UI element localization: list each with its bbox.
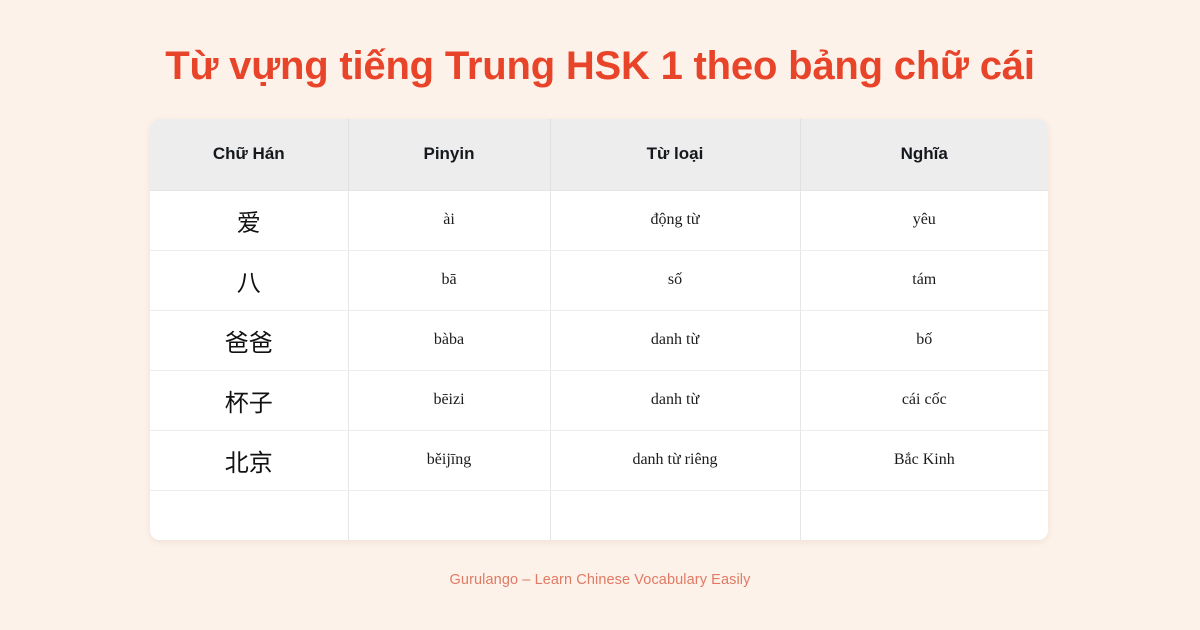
- cell-meaning: cái cốc: [800, 370, 1048, 430]
- cell-hanzi: 北京: [150, 430, 348, 490]
- poster-root: Từ vựng tiếng Trung HSK 1 theo bảng chữ …: [0, 0, 1200, 630]
- cell-pinyin: bā: [348, 250, 550, 310]
- table-empty-row: [150, 490, 1048, 540]
- table-row: 爱 ài động từ yêu: [150, 190, 1048, 250]
- vocabulary-table-card: Chữ Hán Pinyin Từ loại Nghĩa 爱 ài động t…: [150, 119, 1048, 540]
- cell-type: danh từ riêng: [550, 430, 800, 490]
- cell-type: động từ: [550, 190, 800, 250]
- cell-pinyin: bēizi: [348, 370, 550, 430]
- cell-type: số: [550, 250, 800, 310]
- cell-empty: [800, 490, 1048, 540]
- cell-hanzi: 爱: [150, 190, 348, 250]
- vocabulary-table: Chữ Hán Pinyin Từ loại Nghĩa 爱 ài động t…: [150, 119, 1048, 540]
- cell-meaning: bố: [800, 310, 1048, 370]
- cell-hanzi: 爸爸: [150, 310, 348, 370]
- cell-meaning: yêu: [800, 190, 1048, 250]
- column-header-meaning: Nghĩa: [800, 119, 1048, 190]
- table-header-row: Chữ Hán Pinyin Từ loại Nghĩa: [150, 119, 1048, 190]
- cell-type: danh từ: [550, 370, 800, 430]
- table-row: 北京 běijīng danh từ riêng Bắc Kinh: [150, 430, 1048, 490]
- cell-type: danh từ: [550, 310, 800, 370]
- table-header: Chữ Hán Pinyin Từ loại Nghĩa: [150, 119, 1048, 190]
- footer-branding: Gurulango – Learn Chinese Vocabulary Eas…: [0, 572, 1200, 588]
- page-title: Từ vựng tiếng Trung HSK 1 theo bảng chữ …: [165, 42, 1034, 90]
- cell-pinyin: běijīng: [348, 430, 550, 490]
- column-header-type: Từ loại: [550, 119, 800, 190]
- cell-empty: [348, 490, 550, 540]
- table-body: 爱 ài động từ yêu 八 bā số tám 爸爸 bàba dan…: [150, 190, 1048, 540]
- cell-pinyin: ài: [348, 190, 550, 250]
- column-header-hanzi: Chữ Hán: [150, 119, 348, 190]
- column-header-pinyin: Pinyin: [348, 119, 550, 190]
- table-row: 杯子 bēizi danh từ cái cốc: [150, 370, 1048, 430]
- cell-pinyin: bàba: [348, 310, 550, 370]
- cell-hanzi: 八: [150, 250, 348, 310]
- table-row: 八 bā số tám: [150, 250, 1048, 310]
- table-row: 爸爸 bàba danh từ bố: [150, 310, 1048, 370]
- cell-meaning: tám: [800, 250, 1048, 310]
- cell-hanzi: 杯子: [150, 370, 348, 430]
- cell-empty: [150, 490, 348, 540]
- cell-meaning: Bắc Kinh: [800, 430, 1048, 490]
- cell-empty: [550, 490, 800, 540]
